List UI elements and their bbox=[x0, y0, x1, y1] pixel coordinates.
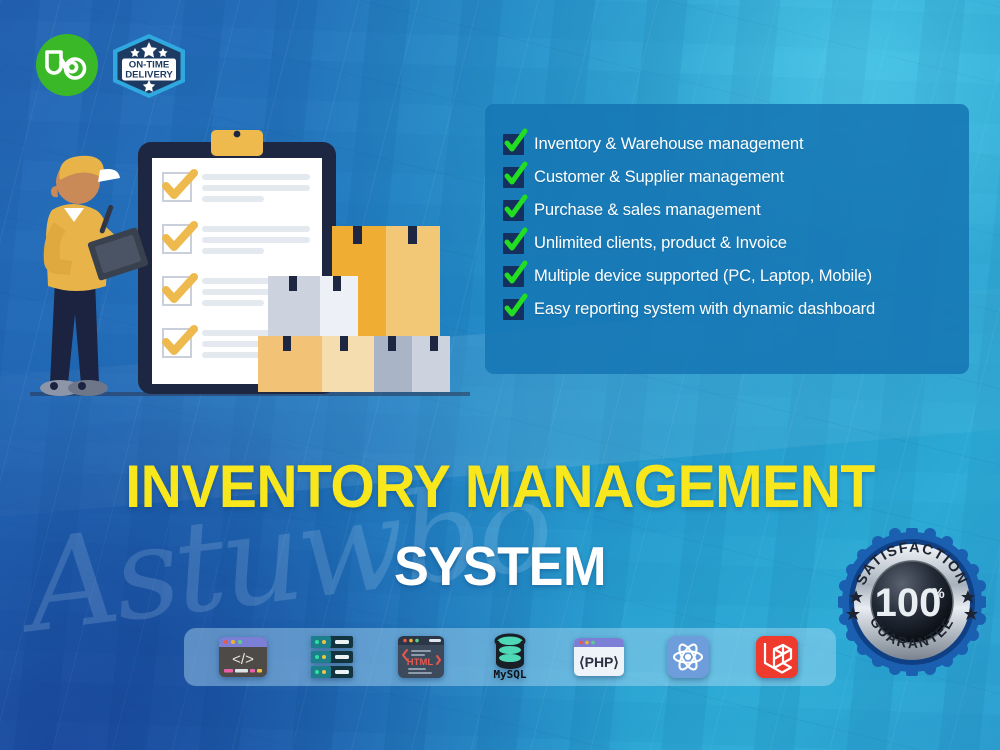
page-subtitle: SYSTEM bbox=[25, 534, 975, 598]
html5-icon: HTML bbox=[393, 633, 449, 681]
feature-item: Customer & Supplier management bbox=[503, 165, 949, 189]
feature-item: Multiple device supported (PC, Laptop, M… bbox=[503, 264, 949, 288]
feature-label: Unlimited clients, product & Invoice bbox=[534, 233, 787, 253]
feature-item: Unlimited clients, product & Invoice bbox=[503, 231, 949, 255]
feature-label: Purchase & sales management bbox=[534, 200, 761, 220]
features-panel: Inventory & Warehouse management Custome… bbox=[485, 104, 969, 374]
react-icon bbox=[660, 633, 716, 681]
svg-text:⟨PHP⟩: ⟨PHP⟩ bbox=[579, 654, 619, 670]
check-icon bbox=[503, 167, 524, 188]
check-icon bbox=[503, 266, 524, 287]
feature-label: Customer & Supplier management bbox=[534, 167, 784, 187]
server-rack-icon bbox=[304, 633, 360, 681]
feature-item: Easy reporting system with dynamic dashb… bbox=[503, 297, 949, 321]
warehouse-illustration bbox=[30, 130, 470, 415]
feature-label: Inventory & Warehouse management bbox=[534, 134, 803, 154]
mysql-icon: MySQL bbox=[482, 633, 538, 681]
feature-item: Purchase & sales management bbox=[503, 198, 949, 222]
check-icon bbox=[503, 134, 524, 155]
seal-unit: % bbox=[931, 585, 944, 602]
feature-label: Easy reporting system with dynamic dashb… bbox=[534, 299, 875, 319]
php-icon: ⟨PHP⟩ bbox=[571, 633, 627, 681]
check-icon bbox=[503, 200, 524, 221]
svg-text:HTML: HTML bbox=[407, 657, 434, 668]
svg-text:MySQL: MySQL bbox=[493, 668, 526, 681]
badge-line2: DELIVERY bbox=[125, 69, 173, 80]
laravel-icon bbox=[749, 633, 805, 681]
check-icon bbox=[503, 233, 524, 254]
feature-item: Inventory & Warehouse management bbox=[503, 132, 949, 156]
feature-label: Multiple device supported (PC, Laptop, M… bbox=[534, 266, 872, 286]
svg-text:</>: </> bbox=[232, 651, 254, 668]
page-title: INVENTORY MANAGEMENT bbox=[25, 452, 975, 521]
tech-stack-bar: </> bbox=[184, 628, 836, 686]
on-time-delivery-badge: ON-TIME DELIVERY bbox=[110, 33, 188, 99]
upwork-logo bbox=[36, 34, 98, 96]
check-icon bbox=[503, 299, 524, 320]
code-editor-icon: </> bbox=[215, 633, 271, 681]
promo-banner: Astuwbo ON-TIME DELIVERY bbox=[0, 0, 1000, 750]
satisfaction-guarantee-seal: SATISFACTION GUARANTEE 100 % bbox=[838, 528, 986, 676]
